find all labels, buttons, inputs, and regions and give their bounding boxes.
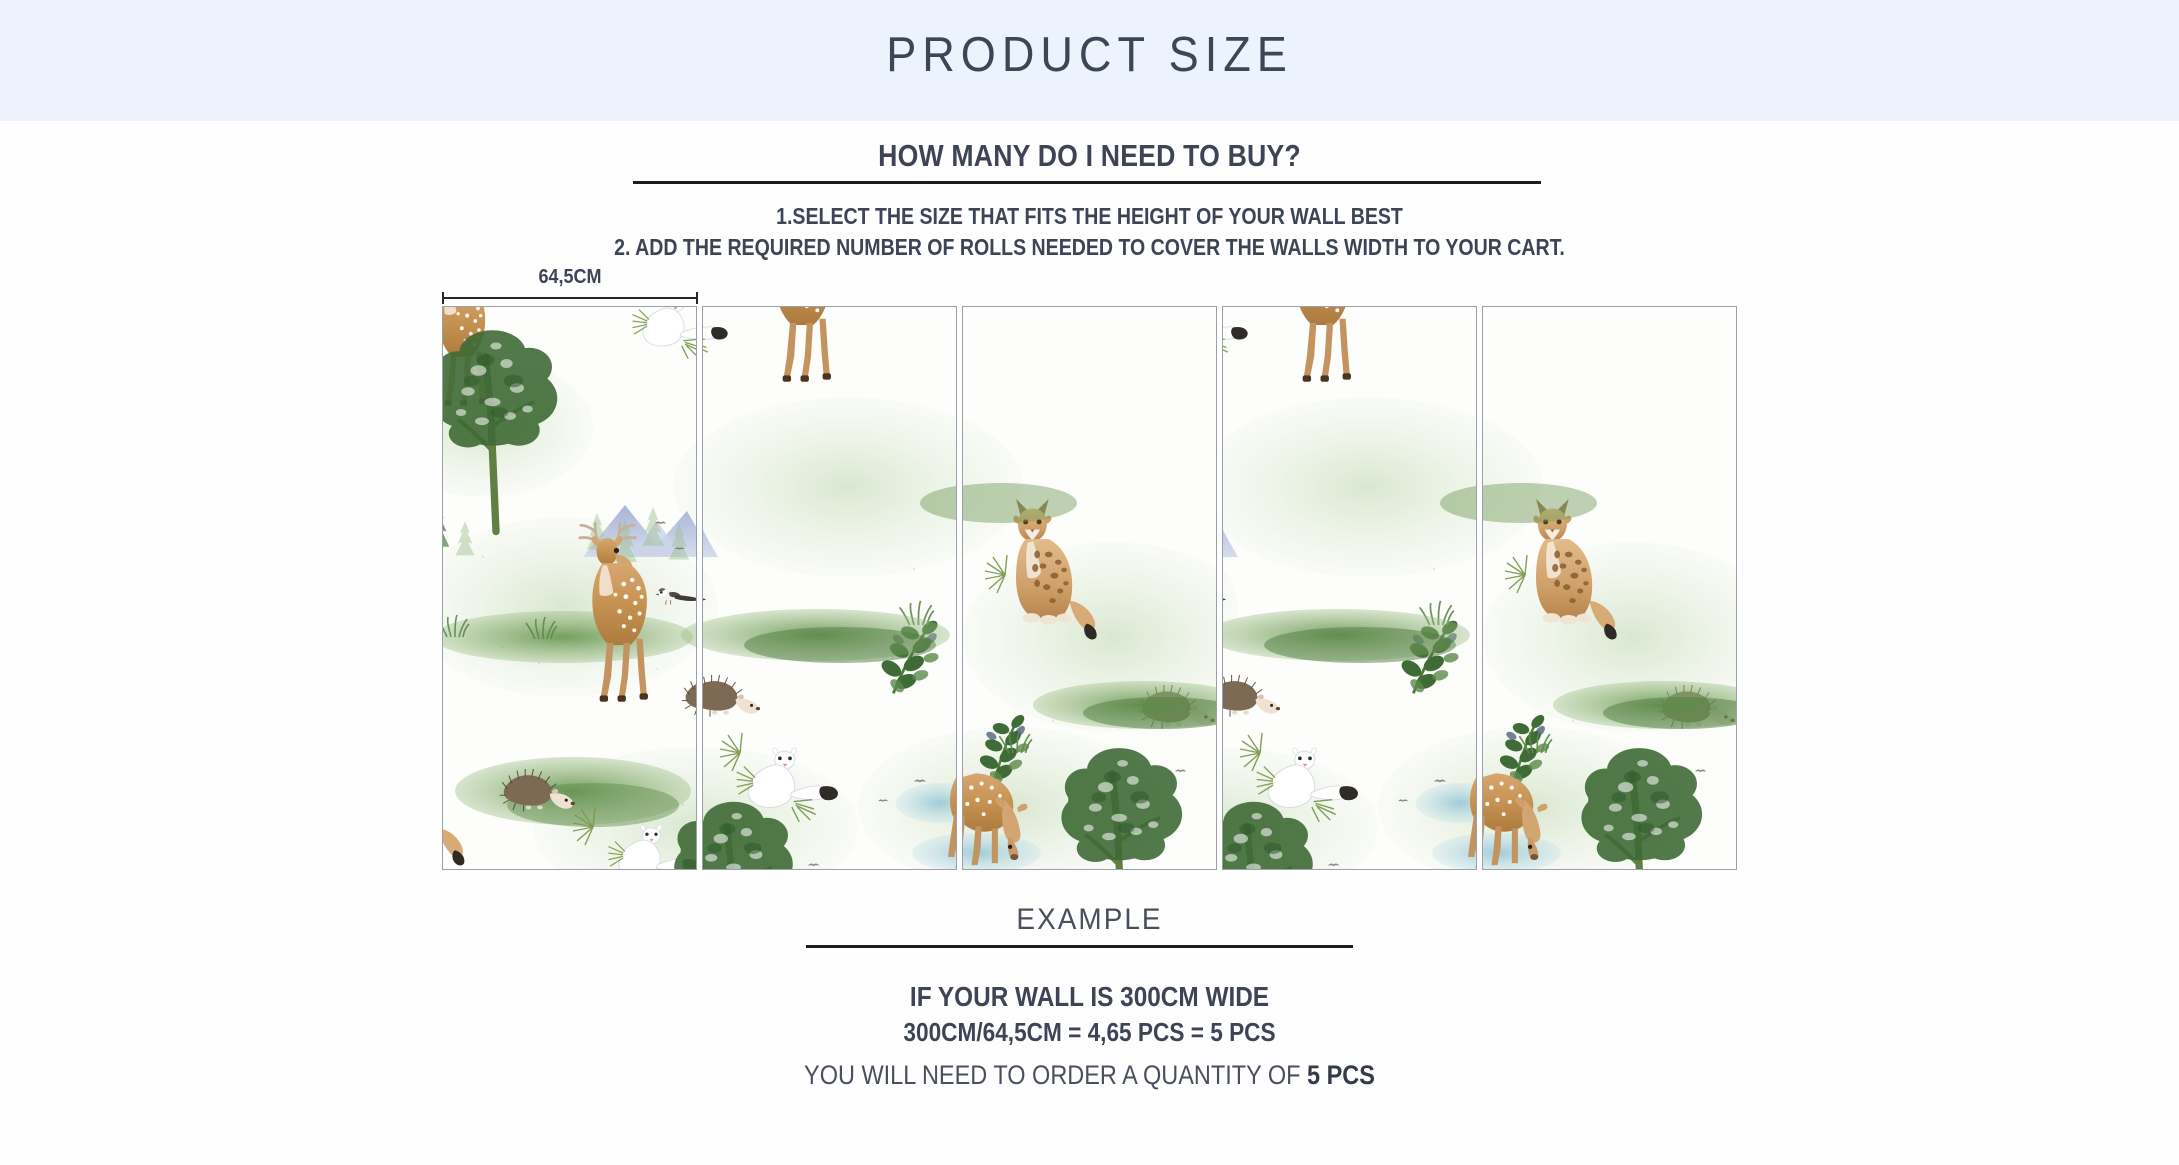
- wallpaper-panel[interactable]: [1222, 306, 1477, 870]
- roll-width-label: 64,5CM: [455, 266, 685, 289]
- woodland-pattern-art: [703, 307, 956, 869]
- example-line-3-prefix: YOU WILL NEED TO ORDER A QUANTITY OF: [804, 1060, 1307, 1090]
- instruction-line-1: 1.SELECT THE SIZE THAT FITS THE HEIGHT O…: [163, 203, 2015, 230]
- example-line-3: YOU WILL NEED TO ORDER A QUANTITY OF 5 P…: [142, 1060, 2038, 1091]
- wallpaper-panel[interactable]: [1482, 306, 1737, 870]
- woodland-pattern-art: [1483, 307, 1736, 869]
- heading-divider: [633, 181, 1541, 184]
- wallpaper-panel[interactable]: [442, 306, 697, 870]
- dimension-line: [442, 292, 698, 304]
- product-size-page: PRODUCT SIZE HOW MANY DO I NEED TO BUY? …: [0, 0, 2179, 1165]
- woodland-pattern-art: [963, 307, 1216, 869]
- dimension-bar: [442, 297, 698, 299]
- section-heading: HOW MANY DO I NEED TO BUY?: [153, 138, 2027, 174]
- example-line-2: 300CM/64,5CM = 4,65 PCS = 5 PCS: [142, 1017, 2038, 1048]
- example-divider: [806, 945, 1353, 948]
- wallpaper-panel[interactable]: [962, 306, 1217, 870]
- woodland-pattern-art: [443, 307, 696, 869]
- dimension-tick-right: [696, 292, 698, 304]
- example-quantity-value: 5 PCS: [1307, 1060, 1375, 1090]
- wallpaper-panel[interactable]: [702, 306, 957, 870]
- wallpaper-panel-row: [442, 306, 1735, 870]
- instruction-line-2: 2. ADD THE REQUIRED NUMBER OF ROLLS NEED…: [163, 234, 2015, 261]
- example-title: EXAMPLE: [76, 903, 2102, 937]
- woodland-pattern-art: [1223, 307, 1476, 869]
- page-title: PRODUCT SIZE: [87, 27, 2092, 83]
- example-line-1: IF YOUR WALL IS 300CM WIDE: [142, 981, 2038, 1013]
